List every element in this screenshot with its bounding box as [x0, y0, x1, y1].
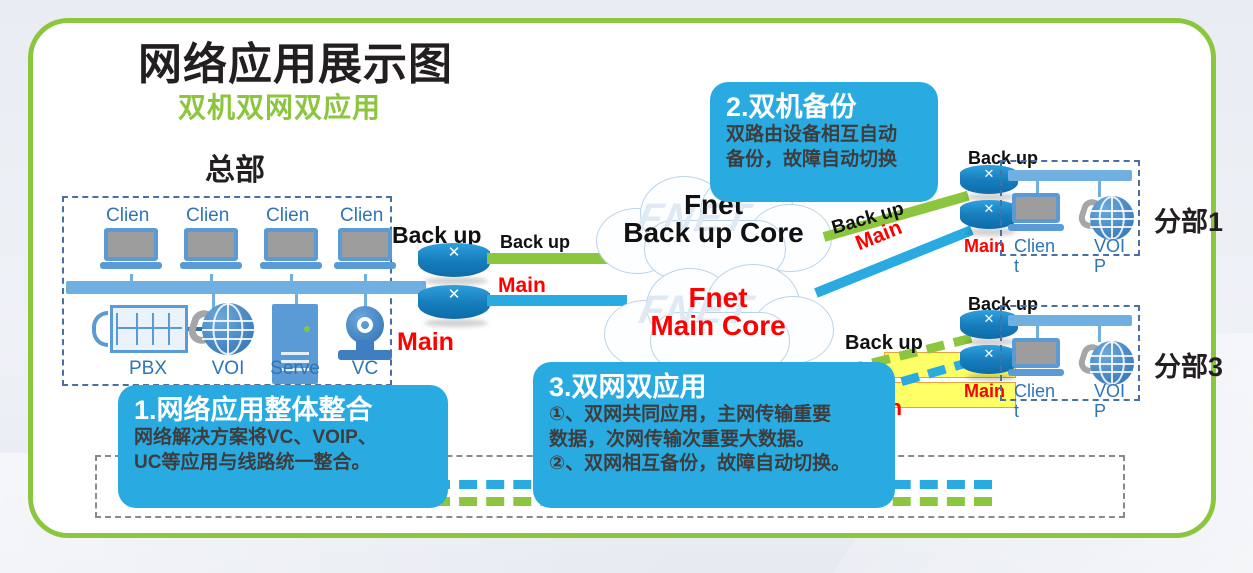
hq-router-backup: ✕: [418, 243, 490, 285]
vc-label: VC: [335, 358, 395, 380]
branch3-client-label: Client: [1014, 381, 1058, 421]
branch1-voip-label: VOIP: [1094, 236, 1126, 276]
branch3-name: 分部3: [1154, 345, 1223, 384]
mid-main-label: Main: [498, 274, 546, 298]
cloud-backup-core-line2: Back up Core: [596, 218, 831, 247]
callout-3-line-2: 数据，次网传输次重要大数据。: [549, 428, 879, 453]
pbx-icon: [92, 305, 188, 353]
callout-1-title: 1.网络应用整体整合: [134, 395, 432, 426]
callout-3-title: 3.双网双应用: [549, 372, 879, 403]
callout-2-body: 双路由设备相互自动 备份，故障自动切换: [726, 123, 922, 172]
server-label: Serve: [265, 358, 325, 380]
page-title: 网络应用展示图: [138, 28, 453, 92]
branch1-voip-globe-icon: [1090, 196, 1134, 240]
diagram-canvas: 网络应用展示图 双机双网双应用 总部 Client Client Client …: [0, 0, 1253, 573]
callout-1-body: 网络解决方案将VC、VOIP、 UC等应用与线路统一整合。: [134, 426, 432, 475]
branch3-drop-voip: [1098, 326, 1101, 342]
callout-1[interactable]: 1.网络应用整体整合 网络解决方案将VC、VOIP、 UC等应用与线路统一整合。: [118, 385, 448, 508]
voip-globe-icon: [202, 303, 254, 355]
client-laptop-1: [100, 228, 162, 274]
branch1-backbone: [1008, 170, 1132, 181]
branch1-router-main-tag: Main: [964, 236, 1005, 257]
callout-2-line-1: 双路由设备相互自动: [726, 123, 922, 148]
callout-3-body: ①、双网共同应用，主网传输重要 数据，次网传输次重要大数据。 ②、双网相互备份，…: [549, 403, 879, 477]
hq-router-main: ✕: [418, 285, 490, 327]
callout-3-line-1: ①、双网共同应用，主网传输重要: [549, 403, 879, 428]
headquarters-label: 总部: [205, 145, 265, 189]
cloud-main-core-line2: Main Core: [604, 311, 832, 340]
callout-1-line-2: UC等应用与线路统一整合。: [134, 451, 432, 476]
drop-line-1: [130, 274, 133, 283]
branch1-client-label: Client: [1014, 236, 1058, 276]
drop-line-3: [290, 274, 293, 283]
cloud-main-core-line1: Fnet: [604, 283, 832, 312]
callout-2-line-2: 备份，故障自动切换: [726, 148, 922, 173]
callout-3-line-3: ②、双网相互备份，故障自动切换。: [549, 452, 879, 477]
client-laptop-2: [180, 228, 242, 274]
callout-3[interactable]: 3.双网双应用 ①、双网共同应用，主网传输重要 数据，次网传输次重要大数据。 ②…: [533, 362, 895, 508]
mid-backup-label: Back up: [500, 232, 570, 253]
branch1-drop-voip: [1098, 181, 1101, 197]
branch3-backbone: [1008, 315, 1132, 326]
client-laptop-3: [260, 228, 322, 274]
callout-1-line-1: 网络解决方案将VC、VOIP、: [134, 426, 432, 451]
callout-2[interactable]: 2.双机备份 双路由设备相互自动 备份，故障自动切换: [710, 82, 938, 202]
headquarters-backbone: [66, 281, 426, 294]
callout-2-title: 2.双机备份: [726, 92, 922, 123]
drop-line-2: [210, 274, 213, 283]
branch3-router-main-tag: Main: [964, 381, 1005, 402]
pbx-label: PBX: [118, 358, 178, 380]
drop-line-vc: [364, 288, 367, 308]
branch3-voip-globe-icon: [1090, 341, 1134, 385]
branch1-name: 分部1: [1154, 200, 1223, 239]
voip-label: VOI: [198, 358, 258, 380]
branch3-backup-link-label: Back up: [845, 332, 923, 355]
hq-main-router-label: Main: [397, 328, 454, 357]
branch1-client-laptop: [1008, 193, 1064, 235]
page-subtitle: 双机双网双应用: [178, 86, 381, 126]
drop-line-4: [364, 274, 367, 283]
vc-camera-icon: [338, 306, 392, 362]
branch3-client-laptop: [1008, 338, 1064, 380]
branch3-voip-label: VOIP: [1094, 381, 1126, 421]
client-laptop-4: [334, 228, 396, 274]
